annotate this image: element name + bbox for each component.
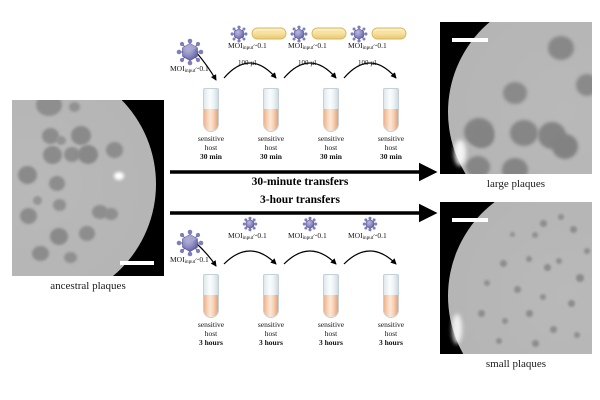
tube-top-2 [263,88,279,132]
tube-bottom-4 [383,274,399,318]
phage-icon-transfer-bottom-2 [303,217,318,232]
moi-subscript: input [243,235,254,241]
moi-text: MOI [288,231,303,240]
volume-label-top-1: 100 µl [238,59,256,67]
tube-media [204,109,218,131]
tube-top-4 [383,88,399,132]
tube-media [264,295,278,317]
moi-subscript: input [303,45,314,51]
moi-label-inoculum-top: MOIinput~0.1 [170,64,209,74]
tube-media [264,109,278,131]
phage-icon-inoculum-top [177,39,204,66]
moi-text: MOI [228,41,243,50]
moi-value: ~0.1 [313,41,326,50]
moi-label-bottom-1: MOIinput~0.1 [228,231,267,241]
volume-label-top-3: 100 µl [358,59,376,67]
incubation-time: 30 min [354,152,428,161]
moi-subscript: input [363,45,374,51]
phage-icon-transfer-bottom-1 [243,217,258,232]
tube-bottom-2 [263,274,279,318]
moi-label-top-2: MOIinput~0.1 [288,41,327,51]
transfer-arrow-bottom-2 [284,251,336,264]
transfer-label-3hour: 3-hour transfers [0,194,600,206]
tube-media [204,295,218,317]
moi-label-bottom-2: MOIinput~0.1 [288,231,327,241]
moi-value: ~0.1 [373,41,386,50]
moi-label-inoculum-bottom: MOIinput~0.1 [170,255,209,265]
moi-text: MOI [170,64,185,73]
phage-icon-transfer-top-2 [291,26,308,43]
moi-text: MOI [228,231,243,240]
moi-value: ~0.1 [253,41,266,50]
host-line-1: sensitive [354,320,428,329]
phage-icon-transfer-top-3 [351,26,368,43]
host-line-2: host [354,143,428,152]
bacteria-icon-top-2 [312,28,346,39]
moi-value: ~0.1 [195,255,208,264]
moi-value: ~0.1 [373,231,386,240]
tube-bottom-3 [323,274,339,318]
moi-label-top-3: MOIinput~0.1 [348,41,387,51]
moi-value: ~0.1 [313,231,326,240]
tube-media [384,295,398,317]
incubation-time: 3 hours [354,338,428,347]
moi-text: MOI [348,231,363,240]
moi-subscript: input [243,45,254,51]
moi-label-top-1: MOIinput~0.1 [228,41,267,51]
tube-media [384,109,398,131]
moi-text: MOI [288,41,303,50]
tube-bottom-1 [203,274,219,318]
host-line-1: sensitive [354,134,428,143]
tube-media [324,109,338,131]
moi-label-bottom-3: MOIinput~0.1 [348,231,387,241]
moi-value: ~0.1 [195,64,208,73]
tube-top-1 [203,88,219,132]
tube-media [324,295,338,317]
tube-top-3 [323,88,339,132]
moi-subscript: input [363,235,374,241]
transfer-arrow-bottom-3 [344,251,396,264]
transfer-arrow-bottom-1 [224,251,276,264]
moi-text: MOI [170,255,185,264]
phage-icon-transfer-top-1 [231,26,248,43]
moi-value: ~0.1 [253,231,266,240]
transfer-label-30min: 30-minute transfers [0,176,600,188]
phage-icon-transfer-bottom-3 [363,217,378,232]
moi-subscript: input [185,259,196,265]
tube-label-bottom-4: sensitive host 3 hours [354,320,428,347]
moi-text: MOI [348,41,363,50]
bacteria-icon-top-1 [252,28,286,39]
moi-subscript: input [185,68,196,74]
moi-subscript: input [303,235,314,241]
figure-canvas: ancestral plaques large plaques [0,0,600,400]
bacteria-icon-top-3 [372,28,406,39]
tube-label-top-4: sensitive host 30 min [354,134,428,161]
host-line-2: host [354,329,428,338]
volume-label-top-2: 100 µl [298,59,316,67]
phage-icon-inoculum-bottom [177,230,204,257]
